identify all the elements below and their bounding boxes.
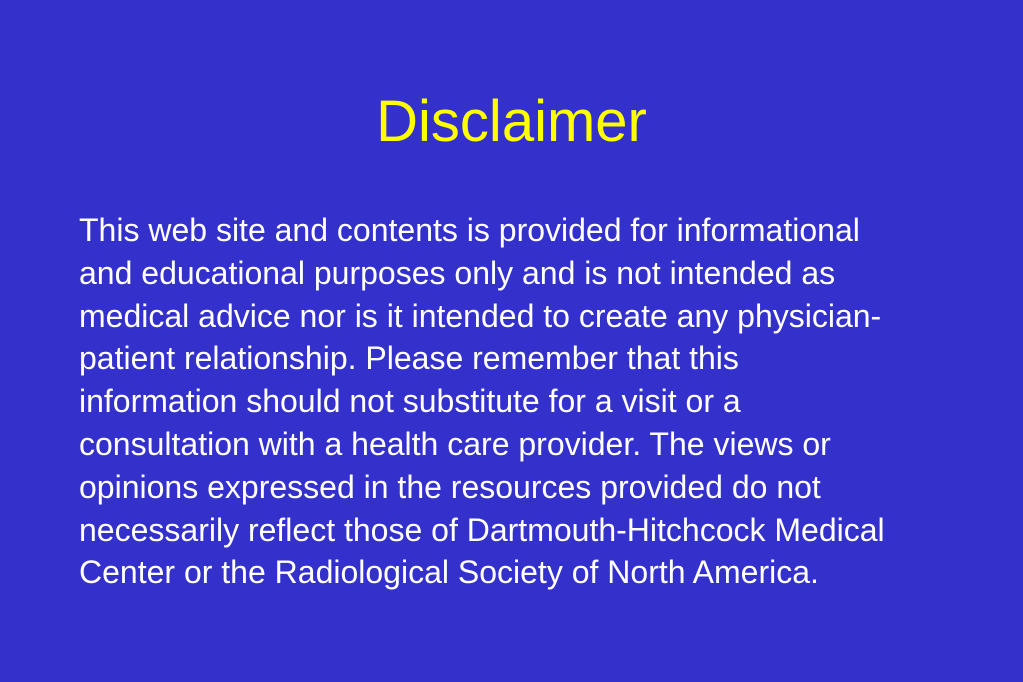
body-line: consultation with a health care provider… [79,423,985,466]
body-line: opinions expressed in the resources prov… [79,466,985,509]
body-line: patient relationship. Please remember th… [79,337,985,380]
presentation-slide: Disclaimer This web site and contents is… [0,0,1023,682]
body-line: and educational purposes only and is not… [79,252,985,295]
body-line: Center or the Radiological Society of No… [79,551,985,594]
body-line: medical advice nor is it intended to cre… [79,295,985,338]
body-line: information should not substitute for a … [79,380,985,423]
body-line: This web site and contents is provided f… [79,209,985,252]
page-title: Disclaimer [0,88,1023,156]
disclaimer-body-text: This web site and contents is provided f… [79,209,985,594]
body-line: necessarily reflect those of Dartmouth-H… [79,509,985,552]
